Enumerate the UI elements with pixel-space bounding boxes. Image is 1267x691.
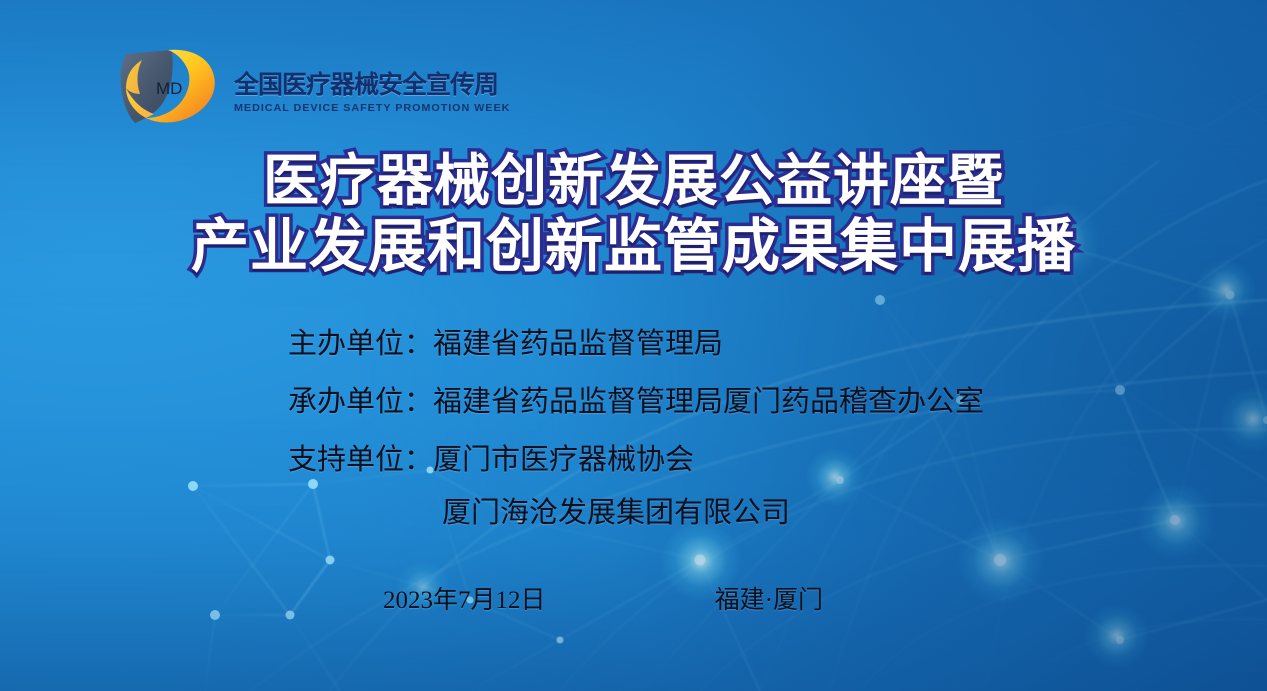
poster-footer: 2023年7月12日 福建·厦门 bbox=[383, 580, 823, 616]
poster-canvas: MD 全国医疗器械安全宣传周 MEDICAL DEVICE SAFETY PRO… bbox=[0, 0, 1267, 691]
campaign-name-cn: 全国医疗器械安全宣传周 bbox=[234, 72, 502, 98]
campaign-logo-text: 全国医疗器械安全宣传周 MEDICAL DEVICE SAFETY PROMOT… bbox=[234, 58, 502, 113]
credit-undertaker: 承办单位：福建省药品监督管理局厦门药品稽查办公室 bbox=[288, 388, 1148, 417]
organizer-credits: 主办单位：福建省药品监督管理局 承办单位：福建省药品监督管理局厦门药品稽查办公室… bbox=[288, 330, 1148, 528]
credit-supporter-1: 支持单位：厦门市医疗器械协会 bbox=[288, 446, 1148, 475]
campaign-name-en: MEDICAL DEVICE SAFETY PROMOTION WEEK bbox=[234, 102, 510, 114]
campaign-logo: MD 全国医疗器械安全宣传周 MEDICAL DEVICE SAFETY PRO… bbox=[110, 44, 502, 128]
headline-line-1: 医疗器械创新发展公益讲座暨 bbox=[0, 148, 1267, 214]
credit-supporter-2: 厦门海沧发展集团有限公司 bbox=[288, 499, 1148, 528]
event-date: 2023年7月12日 bbox=[383, 580, 546, 616]
headline-line-2: 产业发展和创新监管成果集中展播 bbox=[0, 214, 1267, 280]
poster-headline: 医疗器械创新发展公益讲座暨 产业发展和创新监管成果集中展播 bbox=[0, 148, 1267, 280]
md-logo-letters: MD bbox=[156, 79, 182, 98]
credit-organizer: 主办单位：福建省药品监督管理局 bbox=[288, 330, 1148, 359]
md-shield-logo-icon: MD bbox=[110, 44, 222, 128]
event-location: 福建·厦门 bbox=[715, 580, 823, 616]
